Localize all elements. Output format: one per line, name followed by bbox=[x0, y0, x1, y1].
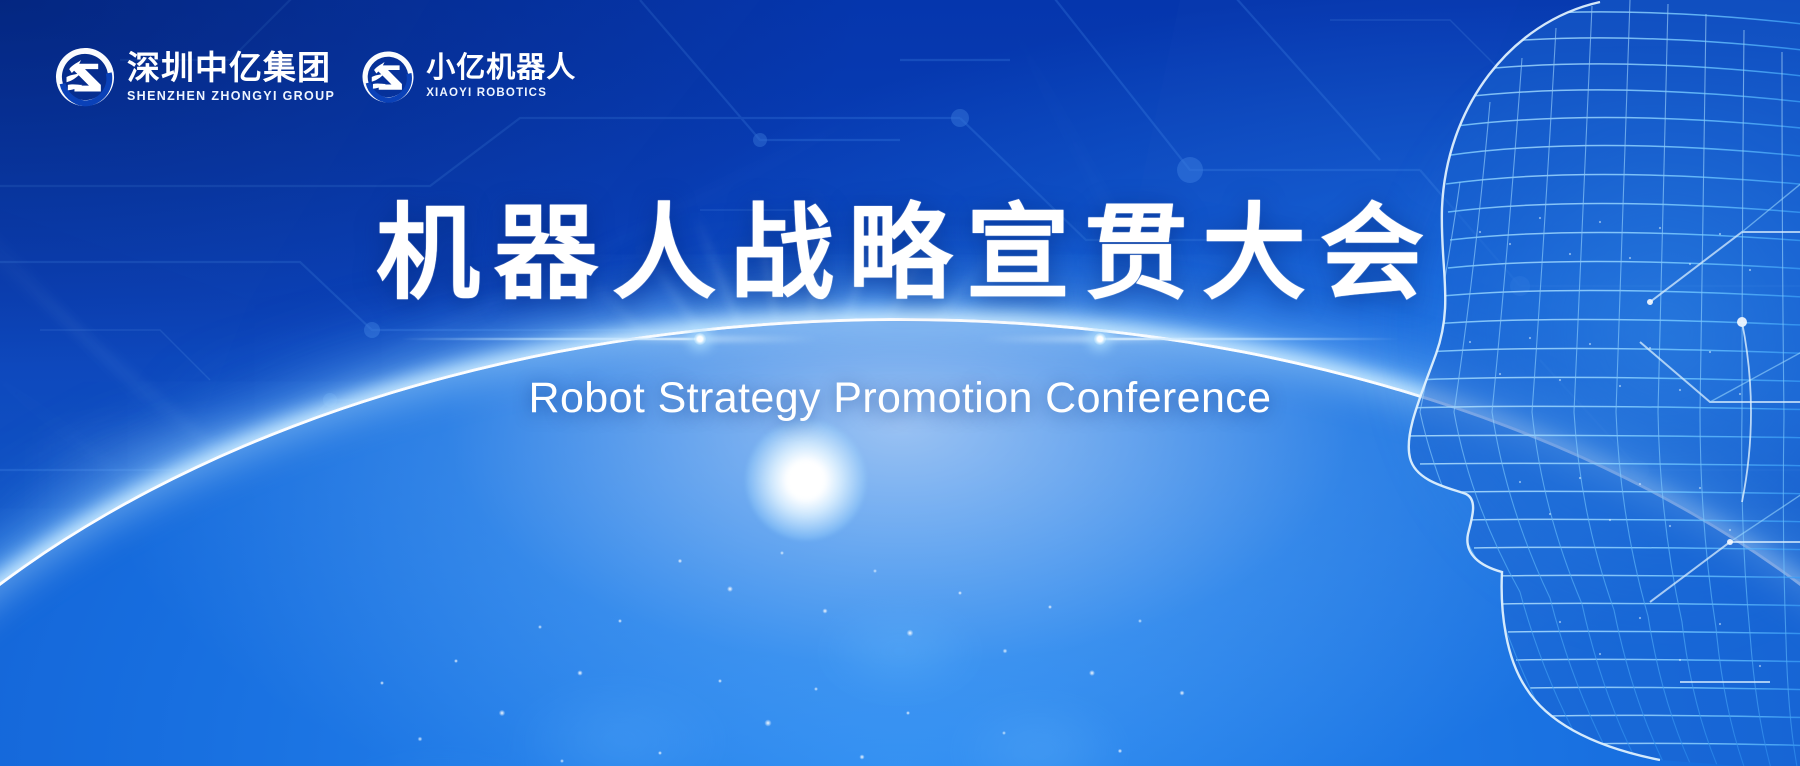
logo-xiaoyi-en: XIAOYI ROBOTICS bbox=[426, 87, 576, 101]
logo-xiaoyi-cn: 小亿机器人 bbox=[426, 53, 576, 84]
xiaoyi-circle-z-emblem-icon bbox=[359, 48, 417, 106]
wireframe-human-head-profile bbox=[1350, 0, 1800, 766]
logo-xiaoyi-robotics[interactable]: 小亿机器人 XIAOYI ROBOTICS bbox=[359, 48, 576, 106]
logo-zhongyi-text: 深圳中亿集团 SHENZHEN ZHONGYI GROUP bbox=[127, 50, 335, 104]
logo-row: 深圳中亿集团 SHENZHEN ZHONGYI GROUP bbox=[52, 44, 576, 110]
conference-banner: 深圳中亿集团 SHENZHEN ZHONGYI GROUP bbox=[0, 0, 1800, 766]
logo-xiaoyi-text: 小亿机器人 XIAOYI ROBOTICS bbox=[426, 53, 576, 101]
zhongyi-circle-z-emblem-icon bbox=[52, 44, 118, 110]
logo-zhongyi-group[interactable]: 深圳中亿集团 SHENZHEN ZHONGYI GROUP bbox=[52, 44, 335, 110]
logo-zhongyi-cn: 深圳中亿集团 bbox=[127, 50, 335, 86]
sun-core bbox=[746, 420, 866, 540]
logo-zhongyi-en: SHENZHEN ZHONGYI GROUP bbox=[127, 89, 335, 104]
